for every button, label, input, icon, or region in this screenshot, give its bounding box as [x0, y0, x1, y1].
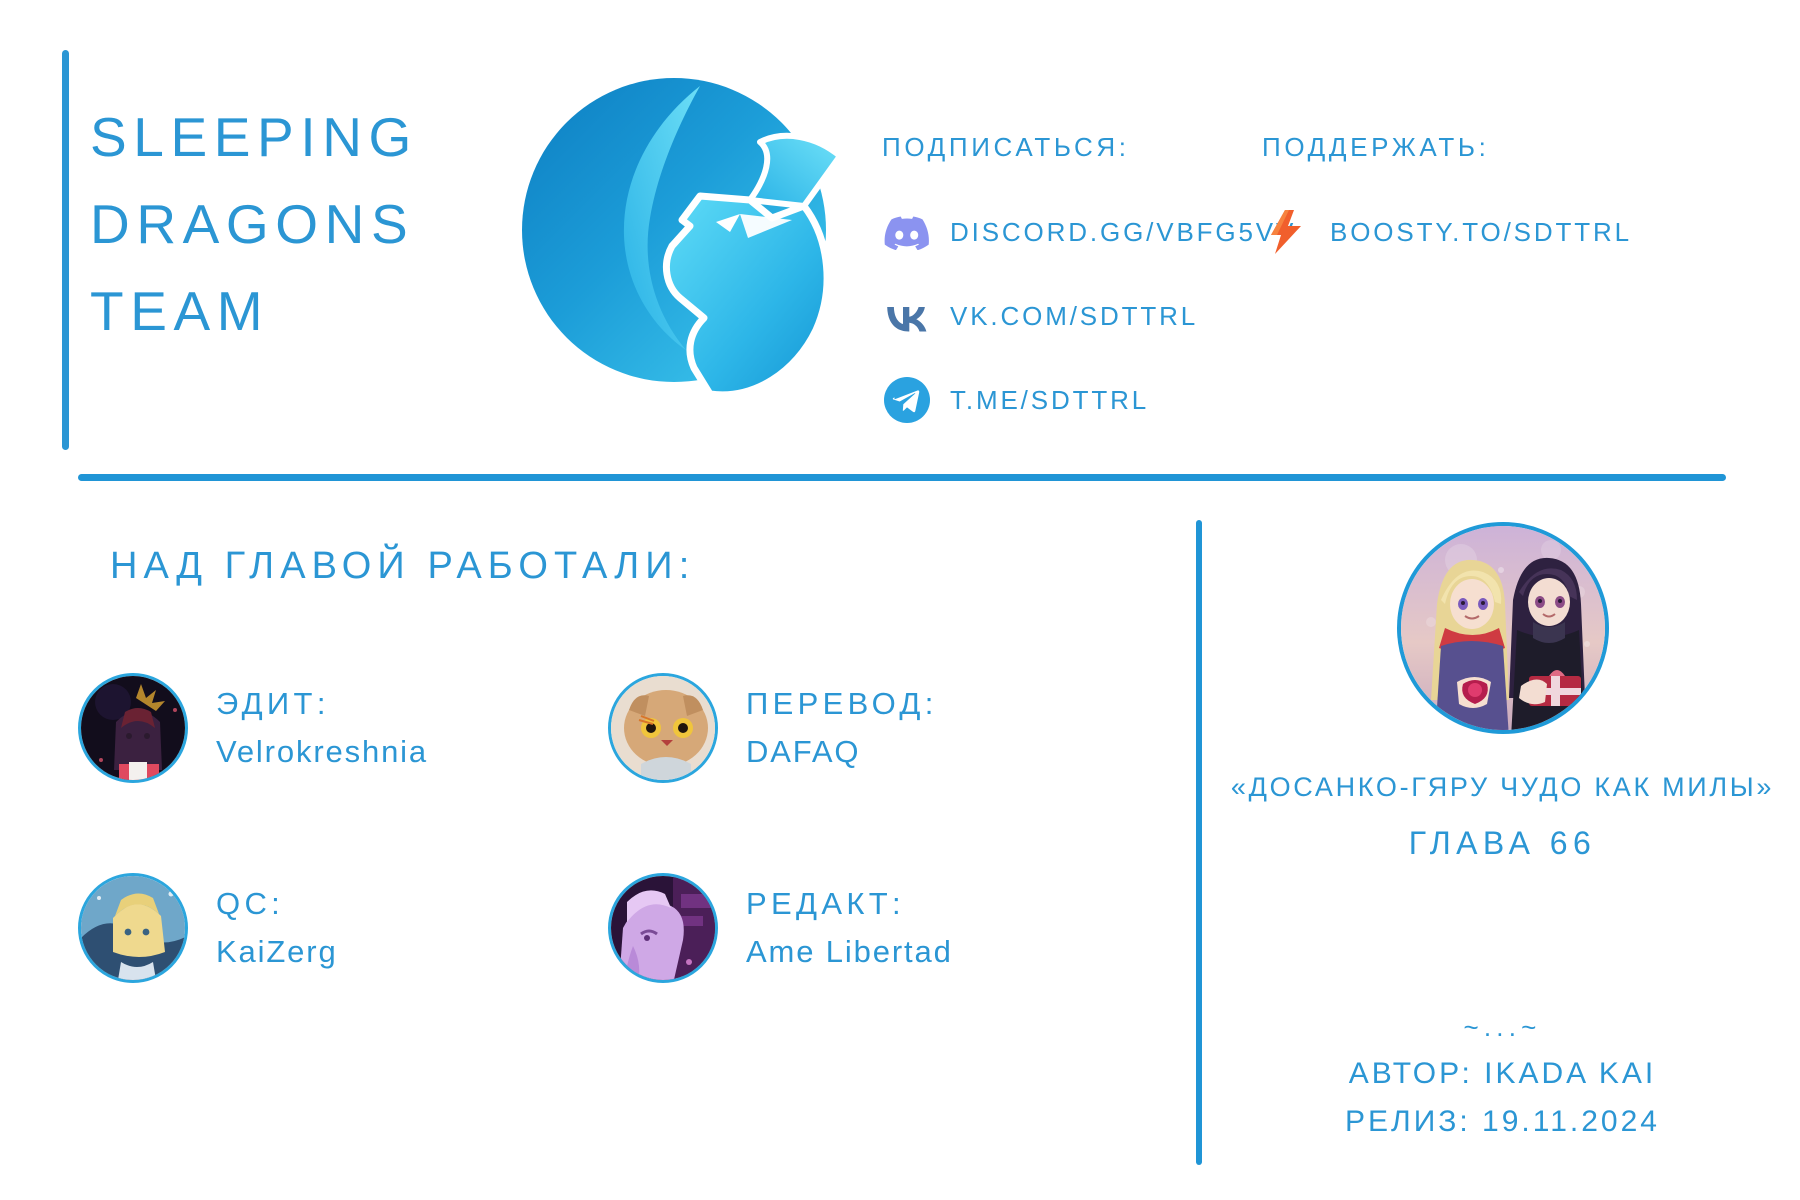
release-date-line: РЕЛИЗ: 19.11.2024 [1230, 1105, 1775, 1139]
credit-role: ЭДИТ: [216, 686, 428, 722]
credit-texts: ПЕРЕВОД: DAFAQ [746, 686, 938, 770]
chapter-cover-thumbnail [1397, 522, 1609, 734]
section-divider [1196, 520, 1202, 1165]
credit-entry-edit: ЭДИТ: Velrokreshnia [78, 628, 608, 828]
wordmark-line-3: TEAM [90, 268, 510, 355]
credits-grid: ЭДИТ: Velrokreshnia [78, 628, 1158, 1028]
credit-entry-qc: QC: KaiZerg [78, 828, 608, 1028]
credit-role: РЕДАКТ: [746, 886, 953, 922]
manga-title: «ДОСАНКО-ГЯРУ ЧУДО КАК МИЛЫ» [1230, 772, 1775, 803]
credit-texts: РЕДАКТ: Ame Libertad [746, 886, 953, 970]
avatar-dafaq [608, 673, 718, 783]
support-heading: ПОДДЕРЖАТЬ: [1262, 132, 1662, 163]
link-boosty[interactable]: BOOSTY.TO/SDTTRL [1262, 203, 1662, 261]
credit-name: DAFAQ [746, 734, 938, 770]
avatar-ame-libertad [608, 873, 718, 983]
credit-texts: ЭДИТ: Velrokreshnia [216, 686, 428, 770]
brand-accent-rule [62, 50, 69, 450]
header: SLEEPING DRAGONS TEAM [52, 36, 1752, 476]
credit-name: KaiZerg [216, 934, 338, 970]
vk-link-label: VK.COM/SDTTRL [950, 301, 1198, 332]
decorative-squiggle: ~...~ [1230, 1012, 1775, 1043]
author-line: АВТОР: IKADA KAI [1230, 1057, 1775, 1091]
credit-entry-proof: РЕДАКТ: Ame Libertad [608, 828, 1138, 1028]
credit-name: Velrokreshnia [216, 734, 428, 770]
brand-wordmark: SLEEPING DRAGONS TEAM [90, 94, 510, 355]
wordmark-line-1: SLEEPING [90, 94, 510, 181]
discord-link-label: DISCORD.GG/VBFG5VV [950, 217, 1296, 248]
credit-role: QC: [216, 886, 338, 922]
wordmark-line-2: DRAGONS [90, 181, 510, 268]
chapter-info-panel: «ДОСАНКО-ГЯРУ ЧУДО КАК МИЛЫ» ГЛАВА 66 ~.… [1230, 510, 1775, 1170]
subscribe-column: ПОДПИСАТЬСЯ: DISCORD.GG/VBFG5VV VK.COM/S… [882, 132, 1252, 455]
chapter-number: ГЛАВА 66 [1230, 825, 1775, 862]
header-divider [78, 474, 1726, 481]
telegram-icon [882, 375, 932, 425]
credit-name: Ame Libertad [746, 934, 953, 970]
credits-page: SLEEPING DRAGONS TEAM [0, 0, 1800, 1200]
link-telegram[interactable]: T.ME/SDTTRL [882, 371, 1252, 429]
subscribe-heading: ПОДПИСАТЬСЯ: [882, 132, 1252, 163]
avatar-kaizerg [78, 873, 188, 983]
support-column: ПОДДЕРЖАТЬ: BOOSTY.TO/SDTTRL [1262, 132, 1662, 287]
boosty-link-label: BOOSTY.TO/SDTTRL [1330, 217, 1632, 248]
credit-role: ПЕРЕВОД: [746, 686, 938, 722]
credit-texts: QC: KaiZerg [216, 886, 338, 970]
link-discord[interactable]: DISCORD.GG/VBFG5VV [882, 203, 1252, 261]
link-vk[interactable]: VK.COM/SDTTRL [882, 287, 1252, 345]
discord-icon [882, 207, 932, 257]
dragon-head-emblem [504, 50, 844, 400]
credits-section: НАД ГЛАВОЙ РАБОТАЛИ: [78, 520, 1158, 1160]
boosty-icon [1262, 207, 1312, 257]
vk-icon [882, 291, 932, 341]
credits-title: НАД ГЛАВОЙ РАБОТАЛИ: [110, 545, 695, 588]
credit-entry-translate: ПЕРЕВОД: DAFAQ [608, 628, 1138, 828]
avatar-velrokreshnia [78, 673, 188, 783]
telegram-link-label: T.ME/SDTTRL [950, 385, 1149, 416]
